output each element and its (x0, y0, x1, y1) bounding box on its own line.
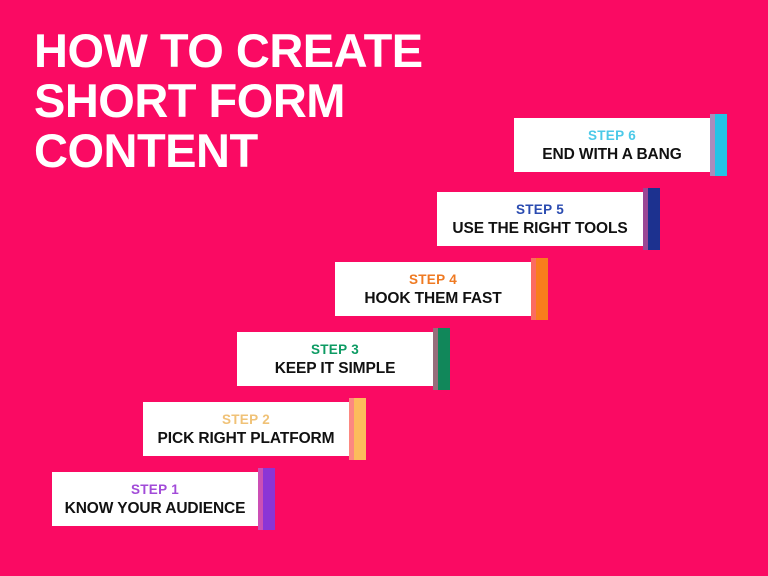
step-card-5[interactable]: STEP 5 USE THE RIGHT TOOLS (437, 192, 643, 246)
step-card-4-title: HOOK THEM FAST (364, 290, 501, 307)
step-card-2-accent-main (354, 398, 366, 460)
step-card-2-title: PICK RIGHT PLATFORM (158, 430, 335, 447)
step-card-4-label: STEP 4 (409, 272, 457, 287)
step-card-3-accent-main (438, 328, 450, 390)
step-card-5-title: USE THE RIGHT TOOLS (452, 220, 627, 237)
poster-canvas: HOW TO CREATE SHORT FORM CONTENT STEP 1 … (0, 0, 768, 576)
step-card-2-label: STEP 2 (222, 412, 270, 427)
step-card-4-accent-main (536, 258, 548, 320)
step-card-2-face: STEP 2 PICK RIGHT PLATFORM (143, 402, 349, 456)
step-card-3-face: STEP 3 KEEP IT SIMPLE (237, 332, 433, 386)
step-card-5-accent-bar (643, 188, 660, 250)
step-card-4[interactable]: STEP 4 HOOK THEM FAST (335, 262, 531, 316)
step-card-6-accent-main (715, 114, 727, 176)
step-card-5-face: STEP 5 USE THE RIGHT TOOLS (437, 192, 643, 246)
page-title: HOW TO CREATE SHORT FORM CONTENT (34, 26, 504, 176)
step-card-4-accent-bar (531, 258, 548, 320)
step-card-1-face: STEP 1 KNOW YOUR AUDIENCE (52, 472, 258, 526)
step-card-2[interactable]: STEP 2 PICK RIGHT PLATFORM (143, 402, 349, 456)
step-card-5-label: STEP 5 (516, 202, 564, 217)
step-card-1-accent-main (263, 468, 275, 530)
step-card-6[interactable]: STEP 6 END WITH A BANG (514, 118, 710, 172)
step-card-3[interactable]: STEP 3 KEEP IT SIMPLE (237, 332, 433, 386)
title-line-3: CONTENT (34, 126, 504, 176)
step-card-1-label: STEP 1 (131, 482, 179, 497)
step-card-6-label: STEP 6 (588, 128, 636, 143)
step-card-6-face: STEP 6 END WITH A BANG (514, 118, 710, 172)
step-card-3-label: STEP 3 (311, 342, 359, 357)
step-card-1-title: KNOW YOUR AUDIENCE (65, 500, 246, 517)
step-card-6-accent-bar (710, 114, 727, 176)
title-line-2: SHORT FORM (34, 76, 504, 126)
step-card-3-title: KEEP IT SIMPLE (275, 360, 396, 377)
title-line-1: HOW TO CREATE (34, 26, 504, 76)
step-card-5-accent-main (648, 188, 660, 250)
step-card-1[interactable]: STEP 1 KNOW YOUR AUDIENCE (52, 472, 258, 526)
step-card-4-face: STEP 4 HOOK THEM FAST (335, 262, 531, 316)
step-card-3-accent-bar (433, 328, 450, 390)
step-card-1-accent-bar (258, 468, 275, 530)
step-card-6-title: END WITH A BANG (542, 146, 681, 163)
step-card-2-accent-bar (349, 398, 366, 460)
